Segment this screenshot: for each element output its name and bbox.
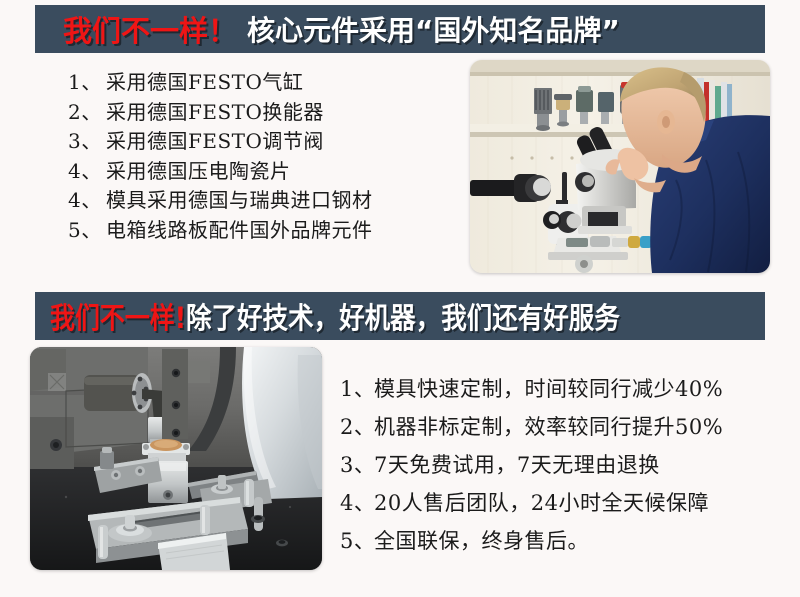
microscope-inspection-photo bbox=[470, 60, 770, 273]
section-1-banner-highlight: 我们不一样！ bbox=[63, 8, 237, 50]
list-item-number: 4、 bbox=[340, 484, 374, 522]
list-item: 2、机器非标定制，效率较同行提升50% bbox=[340, 408, 723, 446]
list-item: 4、20人售后团队，24小时全天候保障 bbox=[340, 484, 723, 522]
list-item-number: 5、 bbox=[68, 216, 106, 246]
list-item-label: 7天免费试用，7天无理由退换 bbox=[374, 453, 660, 477]
list-item-label: 采用德国FESTO调节阀 bbox=[106, 129, 324, 153]
list-item: 1、采用德国FESTO气缸 bbox=[68, 68, 373, 98]
list-item: 2、采用德国FESTO换能器 bbox=[68, 98, 373, 128]
list-item: 4、模具采用德国与瑞典进口钢材 bbox=[68, 186, 373, 216]
list-item: 5、电箱线路板配件国外品牌元件 bbox=[68, 216, 373, 246]
list-item-number: 2、 bbox=[340, 408, 374, 446]
list-item: 3、7天免费试用，7天无理由退换 bbox=[340, 446, 723, 484]
section-1-banner-text: 核心元件采用“国外知名品牌” bbox=[247, 9, 620, 49]
list-item-label: 采用德国FESTO气缸 bbox=[106, 70, 303, 94]
list-item-number: 1、 bbox=[68, 68, 106, 98]
section-2-feature-list: 1、模具快速定制，时间较同行减少40% 2、机器非标定制，效率较同行提升50% … bbox=[340, 370, 723, 560]
list-item-label: 模具采用德国与瑞典进口钢材 bbox=[106, 188, 373, 212]
section-2-banner: 我们不一样! 除了好技术，好机器，我们还有好服务 bbox=[35, 292, 765, 340]
list-item: 5、全国联保，终身售后。 bbox=[340, 522, 723, 560]
section-1-feature-list: 1、采用德国FESTO气缸 2、采用德国FESTO换能器 3、采用德国FESTO… bbox=[68, 68, 373, 245]
list-item: 4、采用德国压电陶瓷片 bbox=[68, 157, 373, 187]
list-item: 1、模具快速定制，时间较同行减少40% bbox=[340, 370, 723, 408]
list-item-number: 5、 bbox=[340, 522, 374, 560]
list-item-label: 模具快速定制，时间较同行减少40% bbox=[374, 377, 723, 401]
list-item-number: 2、 bbox=[68, 98, 106, 128]
list-item: 3、采用德国FESTO调节阀 bbox=[68, 127, 373, 157]
machine-tooling-photo bbox=[30, 347, 322, 570]
list-item-label: 采用德国FESTO换能器 bbox=[106, 100, 324, 124]
list-item-label: 20人售后团队，24小时全天候保障 bbox=[374, 491, 709, 515]
list-item-number: 4、 bbox=[68, 157, 106, 187]
list-item-number: 3、 bbox=[68, 127, 106, 157]
section-1-banner: 我们不一样！ 核心元件采用“国外知名品牌” bbox=[35, 5, 765, 53]
list-item-label: 采用德国压电陶瓷片 bbox=[106, 159, 291, 183]
list-item-number: 1、 bbox=[340, 370, 374, 408]
list-item-label: 机器非标定制，效率较同行提升50% bbox=[374, 415, 723, 439]
list-item-number: 3、 bbox=[340, 446, 374, 484]
machine-tooling-illustration bbox=[30, 347, 322, 570]
promo-page: 我们不一样！ 核心元件采用“国外知名品牌” 1、采用德国FESTO气缸 2、采用… bbox=[0, 0, 800, 597]
list-item-number: 4、 bbox=[68, 186, 106, 216]
list-item-label: 电箱线路板配件国外品牌元件 bbox=[106, 218, 373, 242]
microscope-inspection-illustration bbox=[470, 60, 770, 273]
section-2-banner-text: 除了好技术，好机器，我们还有好服务 bbox=[186, 295, 620, 337]
section-2-banner-highlight: 我们不一样! bbox=[50, 295, 186, 337]
list-item-label: 全国联保，终身售后。 bbox=[374, 529, 589, 553]
